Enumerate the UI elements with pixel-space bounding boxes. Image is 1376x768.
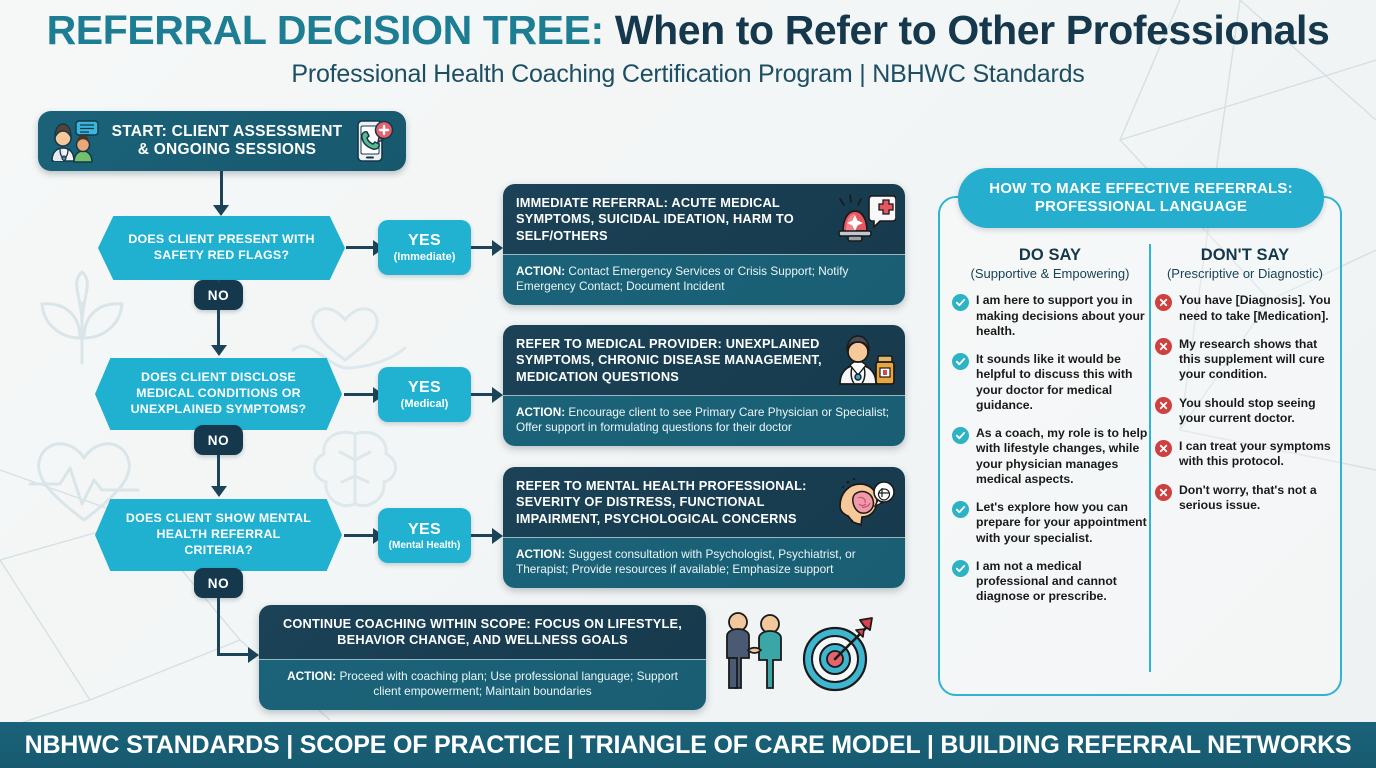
connector-start-to-d1	[220, 171, 223, 207]
emergency-siren-icon	[834, 193, 896, 245]
footer-text: NBHWC STANDARDS | SCOPE OF PRACTICE | TR…	[25, 731, 1352, 760]
infographic-root: REFERRAL DECISION TREE: When to Refer to…	[0, 0, 1376, 768]
do-say-item-text: As a coach, my role is to help with life…	[976, 426, 1148, 487]
dont-say-item-text: You should stop seeing your current doct…	[1179, 396, 1335, 427]
x-circle-icon	[1155, 294, 1172, 311]
x-circle-icon	[1155, 338, 1172, 355]
do-say-item-text: I am here to support you in making decis…	[976, 293, 1148, 339]
no-3-label: NO	[208, 576, 229, 591]
panel-heading-badge: HOW TO MAKE EFFECTIVE REFERRALS: PROFESS…	[958, 168, 1324, 228]
yes-1-sublabel: (Immediate)	[394, 251, 456, 263]
do-say-item-text: I am not a medical professional and cann…	[976, 559, 1148, 605]
outcome-card-2: REFER TO MEDICAL PROVIDER: UNEXPLAINED S…	[503, 325, 905, 446]
no-2-label: NO	[208, 433, 229, 448]
outcome-card-1-body: ACTION: Contact Emergency Services or Cr…	[503, 254, 905, 305]
connector-d1-to-no1	[217, 280, 220, 282]
outcome-card-1-action-text: Contact Emergency Services or Crisis Sup…	[516, 264, 848, 294]
outcome-card-3-body: ACTION: Suggest consultation with Psycho…	[503, 537, 905, 588]
footer-bar: NBHWC STANDARDS | SCOPE OF PRACTICE | TR…	[0, 722, 1376, 768]
decision-2-label: DOES CLIENT DISCLOSE MEDICAL CONDITIONS …	[121, 370, 316, 418]
do-say-item-text: Let's explore how you can prepare for yo…	[976, 500, 1148, 546]
handshake-icon	[718, 610, 790, 692]
outcome-card-2-action-label: ACTION:	[516, 405, 565, 419]
decision-node-3: DOES CLIENT SHOW MENTAL HEALTH REFERRAL …	[95, 499, 342, 571]
outcome-card-1-header: IMMEDIATE REFERRAL: ACUTE MEDICAL SYMPTO…	[503, 184, 905, 254]
outcome-card-1: IMMEDIATE REFERRAL: ACUTE MEDICAL SYMPTO…	[503, 184, 905, 305]
doctor-patient-icon	[50, 119, 102, 163]
yes-3-label: YES	[408, 521, 441, 539]
final-outcome-card: CONTINUE COACHING WITHIN SCOPE: FOCUS ON…	[259, 605, 706, 710]
list-item: Let's explore how you can prepare for yo…	[952, 500, 1148, 546]
do-say-title: DO SAY	[952, 246, 1148, 265]
decision-1-label: DOES CLIENT PRESENT WITH SAFETY RED FLAG…	[124, 232, 319, 264]
final-card-body: ACTION: Proceed with coaching plan; Use …	[259, 659, 706, 710]
dont-say-item-text: I can treat your symptoms with this prot…	[1179, 439, 1335, 470]
check-circle-icon	[952, 501, 969, 518]
outcome-card-2-action: ACTION: Encourage client to see Primary …	[516, 405, 892, 436]
no-pill-1: NO	[194, 280, 243, 310]
dont-say-list: You have [Diagnosis]. You need to take […	[1155, 293, 1335, 513]
yes-2-label: YES	[408, 379, 441, 397]
list-item: You have [Diagnosis]. You need to take […	[1155, 293, 1335, 324]
dont-say-item-text: You have [Diagnosis]. You need to take […	[1179, 293, 1335, 324]
outcome-card-3-action-label: ACTION:	[516, 547, 565, 561]
connector-no3-horizontal	[217, 653, 252, 656]
arrow-no2-to-d3	[211, 486, 227, 497]
start-node-label: START: CLIENT ASSESSMENT & ONGOING SESSI…	[108, 123, 347, 160]
outcome-card-3-header: REFER TO MENTAL HEALTH PROFESSIONAL: SEV…	[503, 467, 905, 537]
no-pill-3: NO	[194, 568, 243, 598]
x-circle-icon	[1155, 484, 1172, 501]
yes-node-1: YES (Immediate)	[378, 220, 471, 275]
x-circle-icon	[1155, 397, 1172, 414]
title-accent: REFERRAL DECISION TREE:	[47, 7, 604, 53]
check-circle-icon	[952, 427, 969, 444]
decision-node-1: DOES CLIENT PRESENT WITH SAFETY RED FLAG…	[98, 216, 345, 280]
outcome-card-3-action-text: Suggest consultation with Psychologist, …	[516, 547, 856, 577]
final-card-header: CONTINUE COACHING WITHIN SCOPE: FOCUS ON…	[259, 605, 706, 659]
arrow-no3-to-final	[248, 647, 259, 663]
professional-language-panel: DO SAY (Supportive & Empowering) I am he…	[938, 196, 1342, 696]
final-card-title: CONTINUE COACHING WITHIN SCOPE: FOCUS ON…	[272, 616, 693, 649]
page-title: REFERRAL DECISION TREE: When to Refer to…	[0, 8, 1376, 54]
start-node: START: CLIENT ASSESSMENT & ONGOING SESSI…	[38, 111, 406, 171]
dont-say-subtitle: (Prescriptive or Diagnostic)	[1155, 266, 1335, 281]
check-circle-icon	[952, 294, 969, 311]
final-card-action-label: ACTION:	[287, 669, 336, 683]
list-item: I can treat your symptoms with this prot…	[1155, 439, 1335, 470]
list-item: As a coach, my role is to help with life…	[952, 426, 1148, 487]
x-circle-icon	[1155, 440, 1172, 457]
list-item: I am here to support you in making decis…	[952, 293, 1148, 339]
start-line-1: START: CLIENT ASSESSMENT	[112, 123, 343, 140]
panel-divider	[1149, 244, 1151, 672]
list-item: I am not a medical professional and cann…	[952, 559, 1148, 605]
outcome-card-1-action: ACTION: Contact Emergency Services or Cr…	[516, 264, 892, 295]
connector-no2-to-d3	[217, 455, 220, 488]
final-card-action-text: Proceed with coaching plan; Use professi…	[336, 669, 678, 699]
connector-no3-vertical	[217, 598, 220, 656]
dont-say-title: DON'T SAY	[1155, 246, 1335, 265]
list-item: Don't worry, that's not a serious issue.	[1155, 483, 1335, 514]
decision-flowchart: START: CLIENT ASSESSMENT & ONGOING SESSI…	[0, 100, 930, 720]
decision-3-label: DOES CLIENT SHOW MENTAL HEALTH REFERRAL …	[121, 511, 316, 559]
title-rest: When to Refer to Other Professionals	[604, 7, 1330, 53]
list-item: It sounds like it would be helpful to di…	[952, 352, 1148, 413]
panel-heading-text: HOW TO MAKE EFFECTIVE REFERRALS: PROFESS…	[972, 180, 1310, 217]
yes-1-label: YES	[408, 232, 441, 250]
outcome-card-3-action: ACTION: Suggest consultation with Psycho…	[516, 547, 892, 578]
arrow-yes3-to-card3	[492, 528, 503, 544]
arrow-yes2-to-card2	[492, 387, 503, 403]
start-line-2: & ONGOING SESSIONS	[138, 141, 316, 158]
do-say-item-text: It sounds like it would be helpful to di…	[976, 352, 1148, 413]
emergency-phone-icon	[354, 118, 394, 164]
yes-node-3: YES (Mental Health)	[378, 508, 471, 563]
outcome-card-3: REFER TO MENTAL HEALTH PROFESSIONAL: SEV…	[503, 467, 905, 588]
connector-no1-to-d2	[217, 310, 220, 348]
outcome-card-2-header: REFER TO MEDICAL PROVIDER: UNEXPLAINED S…	[503, 325, 905, 395]
yes-2-sublabel: (Medical)	[401, 398, 449, 410]
do-say-column: DO SAY (Supportive & Empowering) I am he…	[952, 246, 1148, 618]
list-item: You should stop seeing your current doct…	[1155, 396, 1335, 427]
page-subtitle: Professional Health Coaching Certificati…	[0, 60, 1376, 89]
dont-say-item-text: My research shows that this supplement w…	[1179, 337, 1335, 383]
yes-node-2: YES (Medical)	[378, 367, 471, 422]
connector-d3-to-yes3	[344, 534, 376, 537]
target-dartboard-icon	[798, 616, 876, 694]
no-pill-2: NO	[194, 425, 243, 455]
do-say-list: I am here to support you in making decis…	[952, 293, 1148, 604]
arrow-no1-to-d2	[211, 345, 227, 356]
check-circle-icon	[952, 560, 969, 577]
no-1-label: NO	[208, 288, 229, 303]
decision-node-2: DOES CLIENT DISCLOSE MEDICAL CONDITIONS …	[95, 358, 342, 430]
doctor-medication-icon	[834, 334, 896, 386]
outcome-card-1-action-label: ACTION:	[516, 264, 565, 278]
connector-d1-to-yes1	[346, 246, 376, 249]
dont-say-item-text: Don't worry, that's not a serious issue.	[1179, 483, 1335, 514]
yes-3-sublabel: (Mental Health)	[389, 540, 461, 551]
outcome-card-2-action-text: Encourage client to see Primary Care Phy…	[516, 405, 889, 435]
outcome-card-2-body: ACTION: Encourage client to see Primary …	[503, 395, 905, 446]
do-say-subtitle: (Supportive & Empowering)	[952, 266, 1148, 281]
check-circle-icon	[952, 353, 969, 370]
page-header: REFERRAL DECISION TREE: When to Refer to…	[0, 8, 1376, 89]
arrow-yes1-to-card1	[492, 240, 503, 256]
connector-d2-to-yes2	[344, 393, 376, 396]
list-item: My research shows that this supplement w…	[1155, 337, 1335, 383]
arrow-start-to-d1	[213, 205, 229, 216]
final-card-action: ACTION: Proceed with coaching plan; Use …	[272, 669, 693, 700]
brain-mental-health-icon	[836, 476, 896, 528]
dont-say-column: DON'T SAY (Prescriptive or Diagnostic) Y…	[1155, 246, 1335, 526]
